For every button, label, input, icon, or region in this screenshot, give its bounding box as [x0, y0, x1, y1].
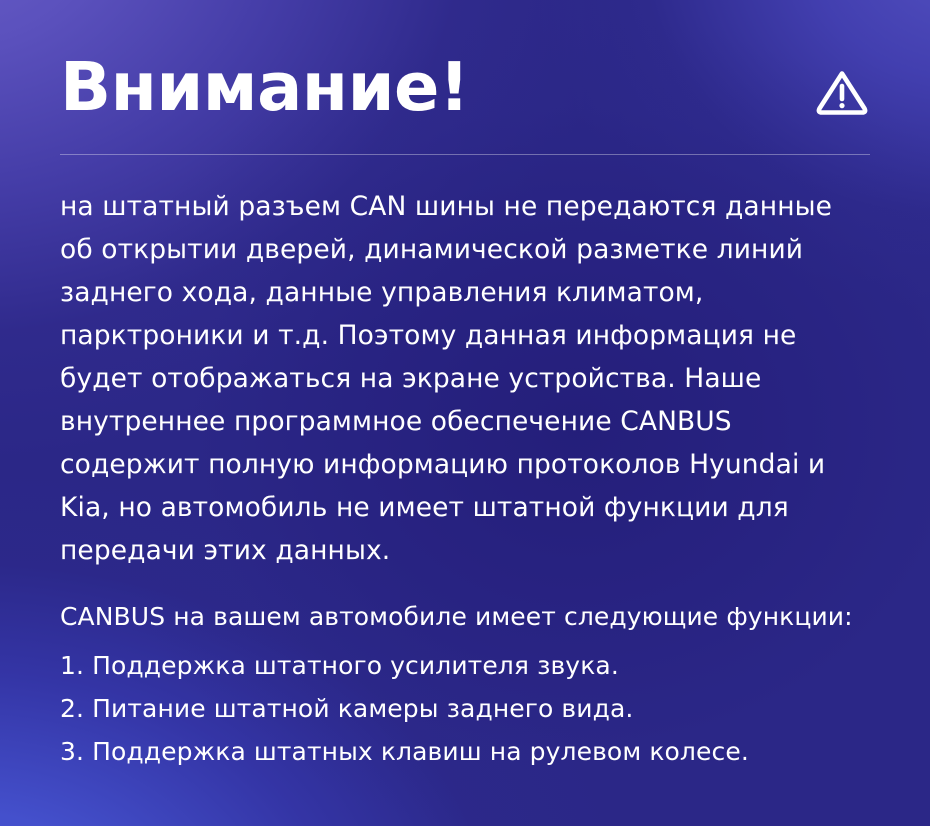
- notice-paragraph: на штатный разъем CAN шины не передаются…: [60, 185, 870, 572]
- features-block: CANBUS на вашем автомобиле имеет следующ…: [60, 595, 870, 773]
- list-item-label: Поддержка штатного усилителя звука.: [92, 651, 619, 680]
- list-item-number: 2.: [60, 694, 84, 723]
- list-item: 2. Питание штатной камеры заднего вида.: [60, 687, 870, 730]
- list-item-number: 1.: [60, 651, 84, 680]
- features-list: 1. Поддержка штатного усилителя звука. 2…: [60, 644, 870, 773]
- header-divider: [60, 154, 870, 155]
- list-item: 1. Поддержка штатного усилителя звука.: [60, 644, 870, 687]
- banner-body: на штатный разъем CAN шины не передаются…: [60, 185, 870, 773]
- banner-header: Внимание!: [60, 0, 870, 122]
- banner-content: Внимание! на штатный разъем CAN шины не …: [0, 0, 930, 826]
- warning-banner: Внимание! на штатный разъем CAN шины не …: [0, 0, 930, 826]
- features-intro: CANBUS на вашем автомобиле имеет следующ…: [60, 595, 870, 638]
- list-item-label: Питание штатной камеры заднего вида.: [92, 694, 633, 723]
- warning-triangle-icon: [814, 64, 870, 120]
- list-item-label: Поддержка штатных клавиш на рулевом коле…: [92, 737, 749, 766]
- list-item: 3. Поддержка штатных клавиш на рулевом к…: [60, 730, 870, 773]
- list-item-number: 3.: [60, 737, 84, 766]
- page-title: Внимание!: [60, 52, 469, 122]
